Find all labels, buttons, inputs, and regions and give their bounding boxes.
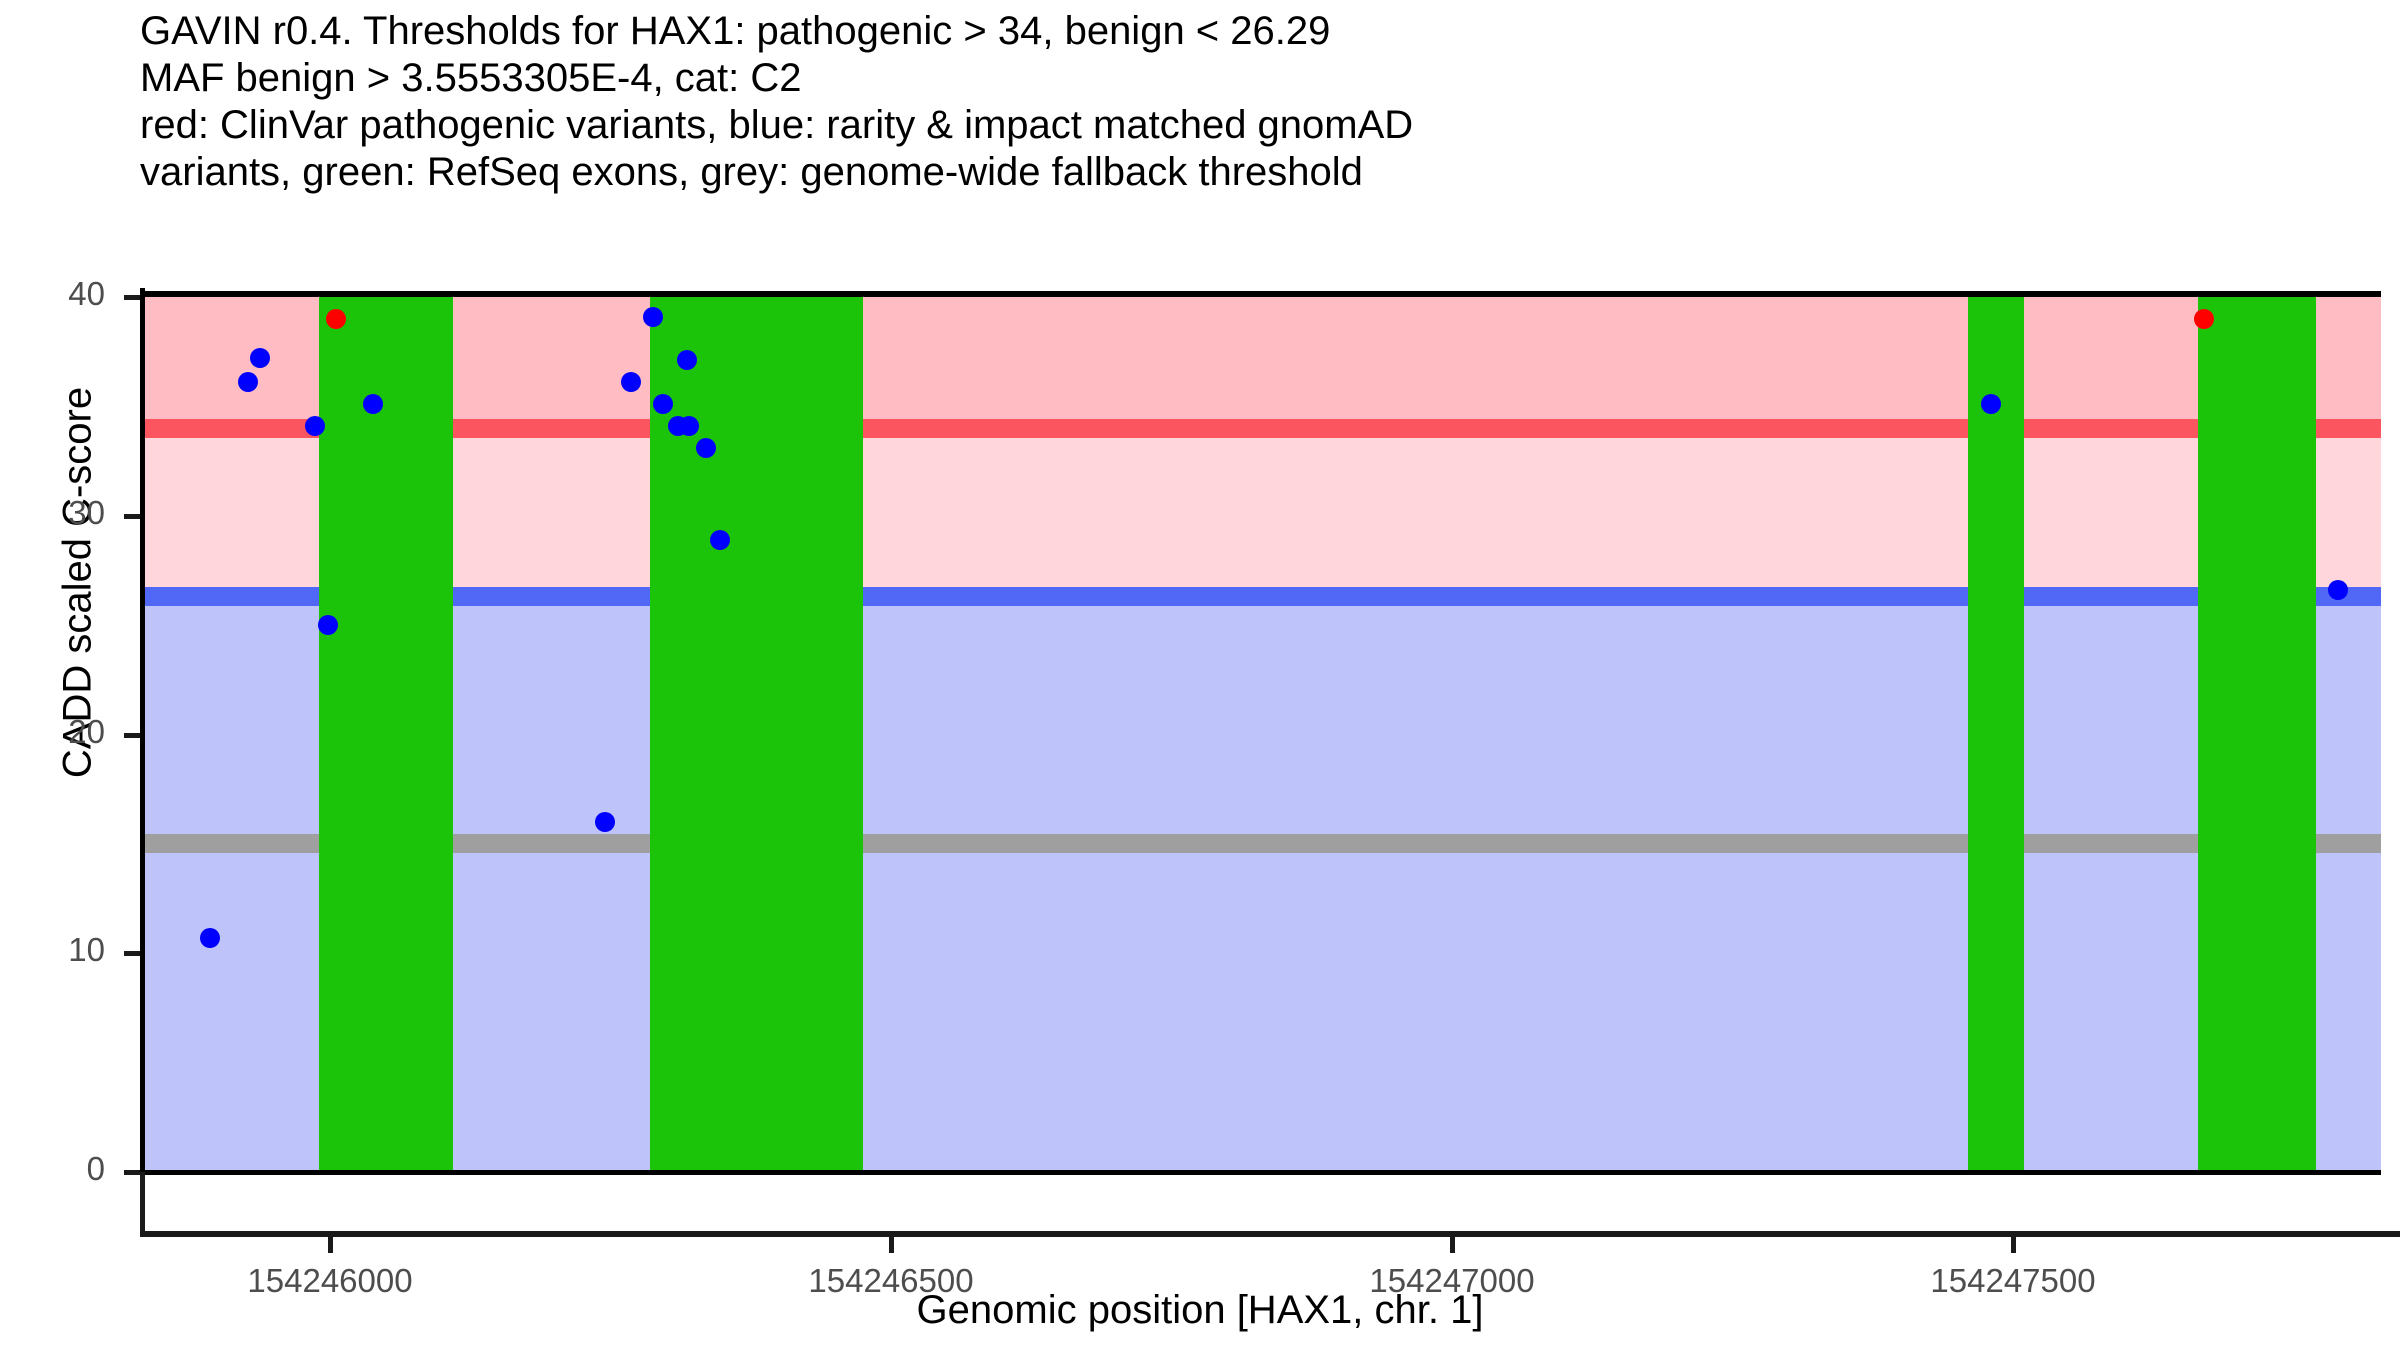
exon-bar-overlay: [1968, 297, 2024, 1172]
gnomad-variant-point: [643, 307, 663, 327]
exon-bar-overlay: [319, 297, 454, 1172]
x-axis-left-cap: [140, 1172, 145, 1236]
x-tick-label: 154246000: [130, 1262, 530, 1300]
clinvar-variant-point: [326, 309, 346, 329]
y-tick-label: 20: [0, 713, 105, 751]
clinvar-variant-point: [2194, 309, 2214, 329]
y-axis-label: CADD scaled C-score: [56, 233, 101, 933]
gnomad-variant-point: [696, 438, 716, 458]
panel-top-border: [140, 291, 2381, 297]
y-axis-line: [140, 288, 145, 1181]
gnomad-variant-point: [595, 812, 615, 832]
band-vous: [140, 428, 2381, 597]
y-tick: [124, 295, 140, 300]
y-tick-label: 0: [0, 1150, 105, 1188]
y-tick: [124, 514, 140, 519]
band-pathogenic: [140, 297, 2381, 428]
y-tick: [124, 951, 140, 956]
x-tick: [889, 1237, 894, 1253]
plot-panel: [140, 297, 2381, 1172]
x-tick: [2011, 1237, 2016, 1253]
pathogenic-threshold-line: [140, 419, 2381, 438]
title-line-4: variants, green: RefSeq exons, grey: gen…: [140, 149, 2340, 196]
title-line-3: red: ClinVar pathogenic variants, blue: …: [140, 102, 2340, 149]
gnomad-variant-point: [363, 394, 383, 414]
panel-bottom-border: [140, 1170, 2381, 1175]
gnomad-variant-point: [318, 615, 338, 635]
fallback-threshold-line: [140, 834, 2381, 853]
y-tick-label: 40: [0, 275, 105, 313]
y-tick: [124, 733, 140, 738]
x-axis-line: [140, 1231, 2400, 1237]
x-tick-label: 154247000: [1252, 1262, 1652, 1300]
title-line-2: MAF benign > 3.5553305E-4, cat: C2: [140, 55, 2340, 102]
x-tick-label: 154247500: [1813, 1262, 2213, 1300]
y-tick-label: 30: [0, 494, 105, 532]
exon-bar-overlay: [2198, 297, 2316, 1172]
plot-area: [140, 297, 2381, 1172]
x-tick: [328, 1237, 333, 1253]
y-tick: [124, 1170, 140, 1175]
benign-threshold-line: [140, 587, 2381, 606]
band-benign: [140, 597, 2381, 1172]
gnomad-variant-point: [679, 416, 699, 436]
title-line-1: GAVIN r0.4. Thresholds for HAX1: pathoge…: [140, 8, 2340, 55]
y-tick-label: 10: [0, 931, 105, 969]
gnomad-variant-point: [200, 928, 220, 948]
chart-title-block: GAVIN r0.4. Thresholds for HAX1: pathoge…: [140, 8, 2340, 196]
x-tick: [1450, 1237, 1455, 1253]
x-tick-label: 154246500: [691, 1262, 1091, 1300]
gnomad-variant-point: [621, 372, 641, 392]
gnomad-variant-point: [1981, 394, 2001, 414]
